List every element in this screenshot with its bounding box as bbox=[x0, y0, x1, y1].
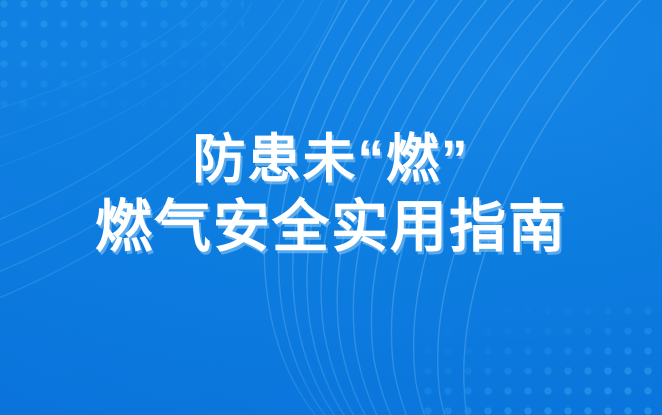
dot-grid-bottom-right bbox=[418, 301, 662, 415]
banner-title-line-1: 防患未“燃” bbox=[0, 133, 662, 186]
banner-title-line-2: 燃气安全实用指南 bbox=[0, 199, 662, 256]
banner-headline: 防患未“燃” 燃气安全实用指南 bbox=[0, 133, 662, 256]
gas-safety-banner: 防患未“燃” 燃气安全实用指南 bbox=[0, 0, 662, 415]
dot-grid-top-left bbox=[0, 0, 244, 114]
